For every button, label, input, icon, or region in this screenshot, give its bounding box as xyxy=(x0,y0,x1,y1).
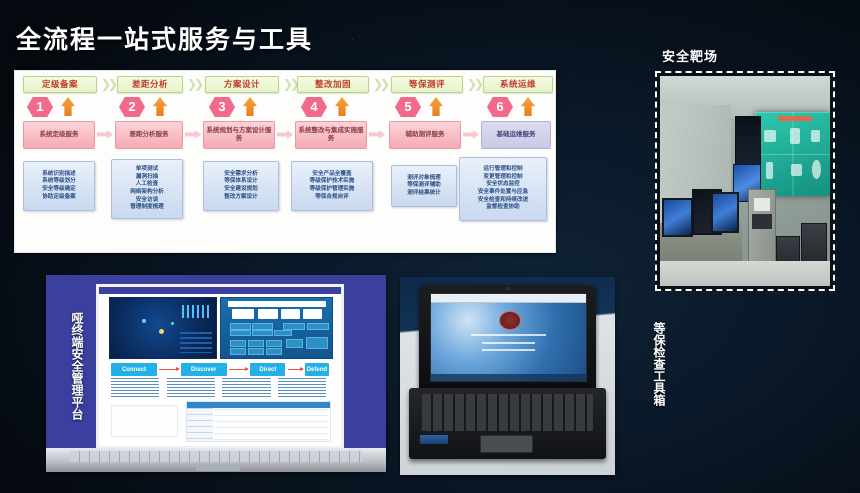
service-box-4: 系统整改与集成实施服务 xyxy=(295,121,367,149)
platform-screenshot: Connect Discover Direct Defend xyxy=(96,284,344,449)
panel-chip[interactable] xyxy=(266,340,282,347)
table-side-nav xyxy=(187,408,213,441)
chevron-right-icon-4: ❯❯ xyxy=(373,78,389,90)
screen-taskbar xyxy=(431,374,586,381)
rack-panel xyxy=(754,198,770,211)
screen-text-line xyxy=(482,349,535,351)
lifecycle-stage-row: Connect Discover Direct Defend xyxy=(111,363,329,376)
map-node-dot xyxy=(159,329,164,334)
detail-item: 等保测评辅助 xyxy=(407,182,441,190)
panel-chip[interactable] xyxy=(274,330,292,337)
up-arrow-icon-3 xyxy=(243,97,257,116)
screen-titlebar xyxy=(431,294,586,304)
panel-chip[interactable] xyxy=(307,323,329,330)
detail-box-2: 单项测试 漏洞扫描 人工检查 网络架构分析 安全访谈 管理制度梳理 xyxy=(111,159,183,219)
panel-action-card[interactable] xyxy=(232,309,254,319)
panel-chip[interactable] xyxy=(306,337,328,349)
detail-box-6: 运行管理和控制 变更管理和控制 安全状态监控 安全事件处置与应急 安全检查和持续… xyxy=(459,157,547,221)
toolkit-laptop-base xyxy=(409,388,607,459)
page-title: 全流程一站式服务与工具 xyxy=(16,20,313,56)
detail-item: 等保体系设计 xyxy=(224,178,258,186)
toolkit-label: 等保检查工具箱 xyxy=(646,322,668,442)
map-node-dot xyxy=(142,319,146,323)
detail-item: 测评结果统计 xyxy=(407,190,441,198)
panel-chip[interactable] xyxy=(248,348,264,355)
detail-box-1: 系统识别描述 系统等级划分 安全等级确定 协助定级备案 xyxy=(23,161,95,211)
chevron-right-icon-1: ❯❯ xyxy=(101,78,117,90)
detail-box-3: 安全需求分析 等保体系设计 安全建设规划 整改方案设计 xyxy=(203,161,279,211)
stage-description-text xyxy=(278,378,326,399)
stage-head-1: 定级备案 xyxy=(23,76,97,93)
process-flow-panel: 定级备案 ❯❯ 1 系统定级服务 系统识别描述 系统等级划分 安全等级确定 协助… xyxy=(14,70,556,253)
panel-chip[interactable] xyxy=(248,340,264,347)
stage-arrow xyxy=(288,369,303,370)
panel-chip[interactable] xyxy=(230,330,251,337)
laptop-keyboard xyxy=(70,451,362,462)
equipment-rack xyxy=(748,189,776,271)
lifecycle-stage-direct: Direct xyxy=(250,363,285,376)
security-range-frame xyxy=(655,71,835,291)
panel-action-card[interactable] xyxy=(258,309,278,319)
rack-dark-slot xyxy=(752,214,772,228)
stage-description-text xyxy=(167,378,215,399)
chevron-right-icon-5: ❯❯ xyxy=(467,78,483,90)
lifecycle-stage-defend: Defend xyxy=(305,363,329,376)
stage-description-text xyxy=(222,378,270,399)
up-arrow-icon-5 xyxy=(429,97,443,116)
detail-item: 等级保护技术实施 xyxy=(310,178,355,186)
toolkit-keyboard xyxy=(422,394,592,431)
up-arrow-icon-4 xyxy=(335,97,349,116)
wall-dark-screen xyxy=(735,116,761,171)
video-wall-display xyxy=(755,112,830,196)
screenshot-top-bar xyxy=(99,287,341,294)
stage-head-3: 方案设计 xyxy=(205,76,279,93)
video-wall-icon xyxy=(766,162,773,179)
detail-item: 管理制度梳理 xyxy=(130,204,164,212)
detail-item: 系统等级划分 xyxy=(42,178,76,186)
panel-chip[interactable] xyxy=(286,339,304,348)
agency-seal-icon xyxy=(499,311,521,330)
stage-number-3: 3 xyxy=(209,97,235,117)
detail-item: 安全建设规划 xyxy=(224,186,258,194)
toolkit-photo xyxy=(400,277,615,475)
cpu-sticker xyxy=(420,435,448,444)
screen-text-line xyxy=(482,342,535,344)
detail-item: 安全事件处置与应急 xyxy=(478,189,528,197)
chevron-right-icon-2: ❯❯ xyxy=(187,78,203,90)
detail-item: 等级保护管理实施 xyxy=(310,186,355,194)
detail-item: 单项测试 xyxy=(136,166,158,174)
laptop-trackpad xyxy=(196,465,240,471)
architecture-diagram xyxy=(111,405,178,437)
detail-item: 整改方案设计 xyxy=(224,194,258,202)
panel-chip[interactable] xyxy=(266,348,282,355)
map-bar-chart xyxy=(182,305,212,318)
stage-number-4: 4 xyxy=(301,97,327,117)
stage-description-text xyxy=(111,378,159,399)
flow-arrow-4 xyxy=(369,130,385,139)
stage-number-1: 1 xyxy=(27,97,53,117)
up-arrow-icon-6 xyxy=(521,97,535,116)
table-body-rows xyxy=(214,409,328,440)
security-range-photo xyxy=(660,76,830,286)
control-panel-widget xyxy=(220,297,333,359)
flow-arrow-1 xyxy=(97,130,113,139)
up-arrow-icon-1 xyxy=(61,97,75,116)
service-box-2: 差距分析服务 xyxy=(115,121,183,149)
stage-number-5: 5 xyxy=(395,97,421,117)
panel-chip[interactable] xyxy=(252,330,273,337)
detail-box-5: 测评对象梳理 等保测评辅助 测评结果统计 xyxy=(391,165,457,207)
toolkit-laptop-lid xyxy=(419,285,595,394)
detail-item: 监督检查协助 xyxy=(486,204,520,212)
panel-chip[interactable] xyxy=(230,348,246,355)
stage-arrow xyxy=(159,369,179,370)
stage-head-2: 差距分析 xyxy=(117,76,183,93)
threat-map-widget xyxy=(109,297,217,359)
lifecycle-stage-connect: Connect xyxy=(111,363,157,376)
photo-floor xyxy=(660,261,830,286)
map-node-dot xyxy=(171,322,174,325)
toolkit-laptop-screen xyxy=(430,293,587,382)
video-wall-icon xyxy=(791,164,801,176)
detail-item: 安全状态监控 xyxy=(486,181,520,189)
detail-item: 运行管理和控制 xyxy=(483,166,522,174)
detail-item: 安全等级确定 xyxy=(42,186,76,194)
toolkit-trackpad xyxy=(480,435,533,453)
screen-text-line xyxy=(471,334,545,336)
service-box-1: 系统定级服务 xyxy=(23,121,95,149)
map-data-rows xyxy=(180,332,212,353)
detail-item: 协助定级备案 xyxy=(42,194,76,202)
panel-action-card[interactable] xyxy=(281,309,300,319)
flow-arrow-3 xyxy=(277,130,293,139)
panel-action-card[interactable] xyxy=(303,309,322,319)
flow-arrow-5 xyxy=(463,130,479,139)
service-box-3: 系统规划与方案设计服务 xyxy=(203,121,275,149)
stage-head-4: 整改加固 xyxy=(297,76,369,93)
panel-chip[interactable] xyxy=(230,340,246,347)
stage-head-5: 等保测评 xyxy=(391,76,463,93)
operator-monitor xyxy=(711,192,739,234)
video-wall-icon xyxy=(764,130,776,142)
up-arrow-icon-2 xyxy=(153,97,167,116)
detail-item: 网络架构分析 xyxy=(130,189,164,197)
service-box-5: 辅助测评服务 xyxy=(389,121,461,149)
video-wall-title-bar xyxy=(778,116,812,121)
detail-item: 人工检查 xyxy=(136,181,158,189)
lifecycle-stage-discover: Discover xyxy=(181,363,227,376)
flow-arrow-2 xyxy=(185,130,201,139)
stage-arrow xyxy=(229,369,249,370)
video-wall-icon xyxy=(790,128,800,143)
stage-head-6: 系统运维 xyxy=(483,76,553,93)
stage-number-2: 2 xyxy=(119,97,145,117)
operator-monitor xyxy=(662,198,693,238)
asset-table-widget xyxy=(186,401,331,441)
detail-box-4: 安全产品全覆盖 等级保护技术实施 等级保护管理实施 等保合规自评 xyxy=(291,161,373,211)
slide-canvas: 全流程一站式服务与工具 定级备案 ❯❯ 1 系统定级服务 系统识别描述 系统等级… xyxy=(0,0,860,493)
video-wall-icon xyxy=(812,160,821,178)
panel-header-card xyxy=(228,301,326,306)
webcam-icon xyxy=(506,287,511,290)
security-range-label: 安全靶场 xyxy=(662,46,718,65)
detail-item: 等保合规自评 xyxy=(315,194,349,202)
platform-label: 哑终端安全管理平台 xyxy=(50,283,84,448)
video-wall-icon xyxy=(811,130,820,142)
service-box-6: 基础运维服务 xyxy=(481,121,551,149)
stage-number-6: 6 xyxy=(487,97,513,117)
